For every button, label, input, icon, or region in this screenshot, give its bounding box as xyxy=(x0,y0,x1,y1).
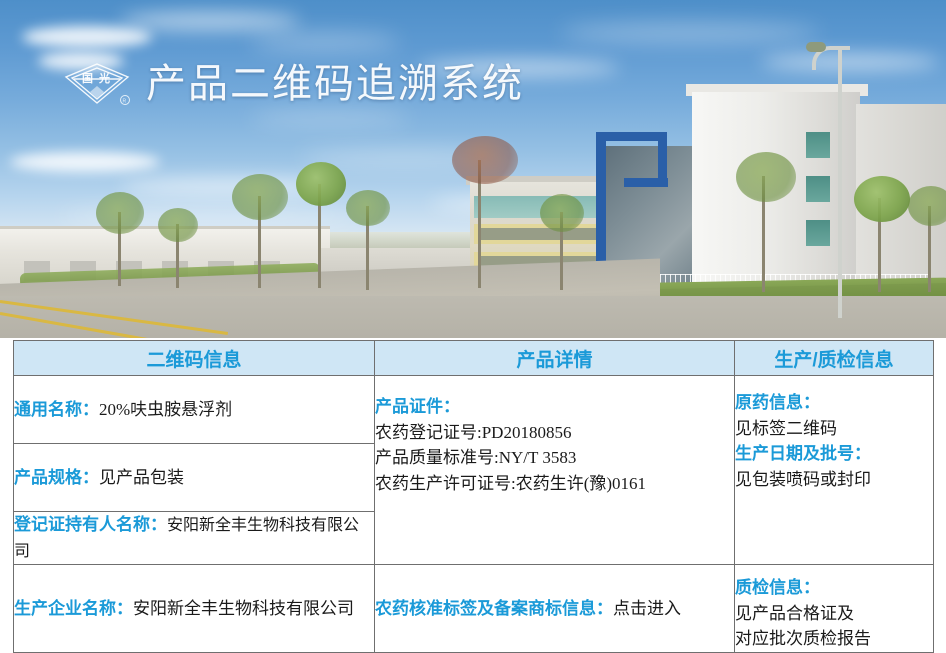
cell-api-and-batch-info: 原药信息： 见标签二维码 生产日期及批号： 见包装喷码或封印 xyxy=(735,376,934,565)
table-row: 通用名称：20%呋虫胺悬浮剂 产品证件： 农药登记证号:PD20180856 产… xyxy=(14,376,934,444)
column-header-product-details: 产品详情 xyxy=(375,341,735,376)
label-production-date-batch: 生产日期及批号： xyxy=(735,441,933,467)
value-production-date-batch: 见包装喷码或封印 xyxy=(735,467,933,493)
table-row: 生产企业名称：安阳新全丰生物科技有限公司 农药核准标签及备案商标信息：点击进入 … xyxy=(14,565,934,653)
cloud xyxy=(760,54,940,70)
tower-window-slot xyxy=(806,176,830,202)
registered-mark: R xyxy=(123,99,127,105)
value-product-specification: 见产品包装 xyxy=(99,468,184,487)
cert-line-registration: 农药登记证号:PD20180856 xyxy=(375,420,734,446)
street-lamp-pole xyxy=(838,48,842,318)
label-qc-info: 质检信息： xyxy=(735,575,933,601)
tree-canopy xyxy=(232,174,288,220)
value-manufacturer: 安阳新全丰生物科技有限公司 xyxy=(133,599,354,618)
cloud xyxy=(22,26,152,48)
tree-canopy xyxy=(158,208,198,242)
tree-canopy xyxy=(908,186,946,226)
street-lamp-head xyxy=(806,42,826,52)
roadway-foreground xyxy=(0,296,946,338)
tree-canopy xyxy=(346,190,390,226)
tree-canopy xyxy=(452,136,518,184)
guoguang-diamond-logo-icon: 国 光 R xyxy=(62,62,132,106)
cell-registration-holder: 登记证持有人名称：安阳新全丰生物科技有限公司 xyxy=(14,512,375,565)
logo-glyph-guo: 国 xyxy=(82,72,93,85)
label-manufacturer: 生产企业名称： xyxy=(14,599,133,618)
cell-common-name: 通用名称：20%呋虫胺悬浮剂 xyxy=(14,376,375,444)
column-header-production-qc-info: 生产/质检信息 xyxy=(735,341,934,376)
blue-structural-frame xyxy=(596,132,666,141)
cert-line-quality-standard: 产品质量标准号:NY/T 3583 xyxy=(375,445,734,471)
cell-manufacturer: 生产企业名称：安阳新全丰生物科技有限公司 xyxy=(14,565,375,653)
tree-canopy xyxy=(854,176,910,222)
logo-glyph-guang: 光 xyxy=(98,71,110,85)
label-product-certificates: 产品证件： xyxy=(375,394,734,420)
label-product-specification: 产品规格： xyxy=(14,468,99,487)
cell-product-certificates: 产品证件： 农药登记证号:PD20180856 产品质量标准号:NY/T 358… xyxy=(375,376,735,565)
label-approved-label-trademark: 农药核准标签及备案商标信息： xyxy=(375,599,613,618)
tree-canopy xyxy=(296,162,346,206)
tree-canopy xyxy=(540,194,584,232)
window-strip xyxy=(480,228,596,240)
value-common-name: 20%呋虫胺悬浮剂 xyxy=(99,400,232,419)
cell-qc-info: 质检信息： 见产品合格证及 对应批次质检报告 xyxy=(735,565,934,653)
tree-canopy xyxy=(96,192,144,234)
enter-link[interactable]: 点击进入 xyxy=(613,599,681,618)
value-api-info: 见标签二维码 xyxy=(735,416,933,442)
product-info-table: 二维码信息 产品详情 生产/质检信息 通用名称：20%呋虫胺悬浮剂 产品证件： … xyxy=(13,340,934,653)
cloud xyxy=(120,12,300,30)
cell-approved-label-trademark[interactable]: 农药核准标签及备案商标信息：点击进入 xyxy=(375,565,735,653)
blue-structural-frame xyxy=(658,132,667,178)
cell-product-specification: 产品规格：见产品包装 xyxy=(14,444,375,512)
tower-window-slot xyxy=(806,220,830,246)
tree-canopy xyxy=(736,152,796,202)
label-registration-holder: 登记证持有人名称： xyxy=(14,515,167,534)
cloud xyxy=(10,152,160,172)
cloud xyxy=(250,112,410,124)
cloud xyxy=(250,34,400,50)
column-header-qrcode-info: 二维码信息 xyxy=(14,341,375,376)
hero-banner: 国 光 R 产品二维码追溯系统 xyxy=(0,0,946,338)
label-common-name: 通用名称： xyxy=(14,400,99,419)
label-api-info: 原药信息： xyxy=(735,390,933,416)
brand-lockup: 国 光 R 产品二维码追溯系统 xyxy=(62,62,524,106)
trace-system-page: 国 光 R 产品二维码追溯系统 二维码信息 产品详情 生 xyxy=(0,0,946,648)
blue-structural-frame xyxy=(624,178,668,187)
cert-line-production-license: 农药生产许可证号:农药生许(豫)0161 xyxy=(375,471,734,497)
table-header-row: 二维码信息 产品详情 生产/质检信息 xyxy=(14,341,934,376)
banner-title: 产品二维码追溯系统 xyxy=(146,64,524,104)
cloud xyxy=(560,24,820,42)
qc-line-1: 见产品合格证及 xyxy=(735,601,933,627)
tower-window-slot xyxy=(806,132,830,158)
